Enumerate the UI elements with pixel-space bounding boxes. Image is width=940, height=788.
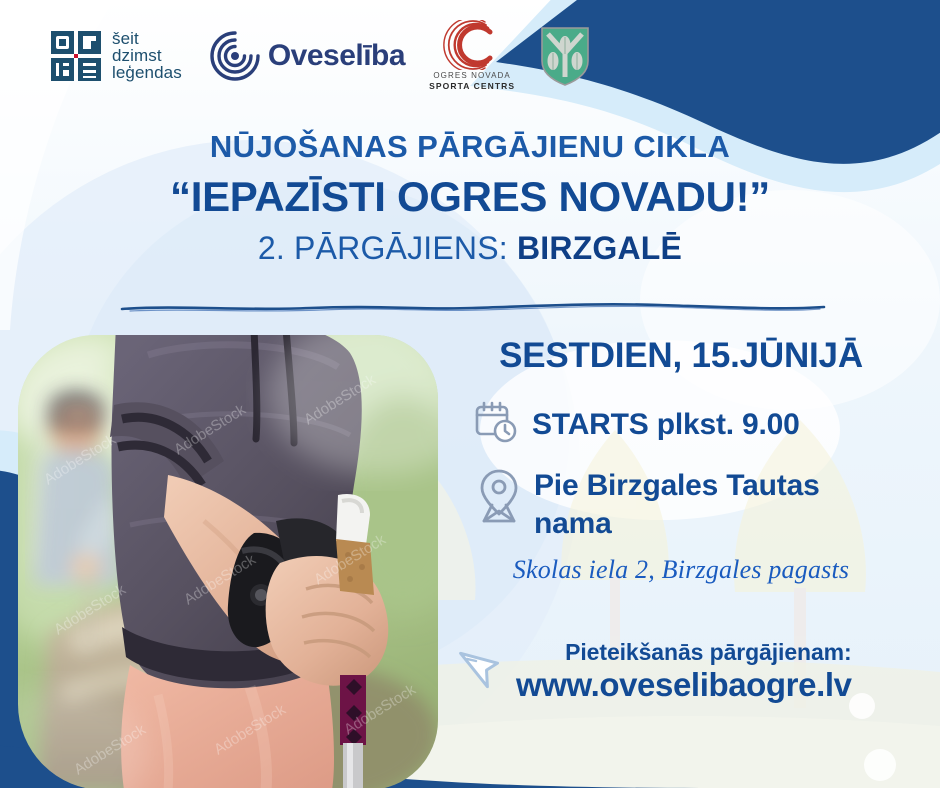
cursor-arrow-icon [454, 637, 510, 704]
headline-line3-location: BIRZGALĒ [517, 230, 682, 266]
start-time-text: STARTS plkst. 9.00 [532, 406, 800, 444]
headline-line3-prefix: 2. PĀRGĀJIENS: [258, 230, 517, 266]
oveseliba-wordmark: Oveselība [268, 39, 405, 73]
ogre-logo: šeit dzimst leģendas [50, 30, 182, 82]
headline-divider [120, 300, 826, 316]
sports-centre-line2: SPORTA CENTRS [429, 81, 515, 91]
address-text: Skolas iela 2, Birzgales pagasts [440, 555, 922, 585]
ogres-novada-sporta-centrs-c-icon [443, 20, 501, 70]
signup-block[interactable]: Pieteikšanās pārgājienam: www.oveselibao… [440, 637, 922, 704]
ogre-tagline-line1: šeit [112, 30, 182, 47]
ogre-logo-mark [50, 30, 102, 82]
event-info-panel: SESTDIEN, 15.JŪNIJĀ STARTS plkst. 9.00 [440, 334, 922, 704]
sports-centre-logo: OGRES NOVADA SPORTA CENTRS [429, 20, 515, 91]
headline-line2: “IEPAZĪSTI OGRES NOVADU!” [0, 170, 940, 224]
oveseliba-spiral-icon [206, 27, 264, 85]
headline-line1: NŪJOŠANAS PĀRGĀJIENU CIKLA [0, 128, 940, 166]
headline-block: NŪJOŠANAS PĀRGĀJIENU CIKLA “IEPAZĪSTI OG… [0, 128, 940, 270]
signup-url[interactable]: www.oveselibaogre.lv [516, 666, 852, 704]
oveseliba-logo: Oveselība [206, 27, 405, 85]
signup-texts: Pieteikšanās pārgājienam: www.oveselibao… [516, 638, 852, 704]
ogre-tagline-line3: leģendas [112, 64, 182, 81]
headline-line3: 2. PĀRGĀJIENS: BIRZGALĒ [0, 226, 940, 270]
location-pin-icon [478, 467, 520, 530]
event-date: SESTDIEN, 15.JŪNIJĀ [440, 334, 922, 378]
sports-centre-line1: OGRES NOVADA [433, 71, 511, 80]
ogre-logo-red-dot [74, 54, 78, 58]
start-time-row: STARTS plkst. 9.00 [440, 400, 922, 449]
photo-illustration: AdobeStock AdobeStock AdobeStock AdobeSt… [18, 335, 438, 788]
poster-canvas: AdobeStock AdobeStock AdobeStock AdobeSt… [0, 0, 940, 788]
location-text: Pie Birzgales Tautas nama [534, 467, 904, 543]
ogres-novada-crest-icon [539, 25, 591, 87]
logo-row: šeit dzimst leģendas Oveselība [50, 20, 591, 91]
calendar-clock-icon [474, 400, 518, 449]
ogre-logo-tagline: šeit dzimst leģendas [112, 30, 182, 81]
signup-label: Pieteikšanās pārgājienam: [516, 638, 852, 666]
location-row: Pie Birzgales Tautas nama [440, 467, 922, 543]
nordic-walking-photo: AdobeStock AdobeStock AdobeStock AdobeSt… [18, 335, 438, 788]
ogre-tagline-line2: dzimst [112, 47, 182, 64]
